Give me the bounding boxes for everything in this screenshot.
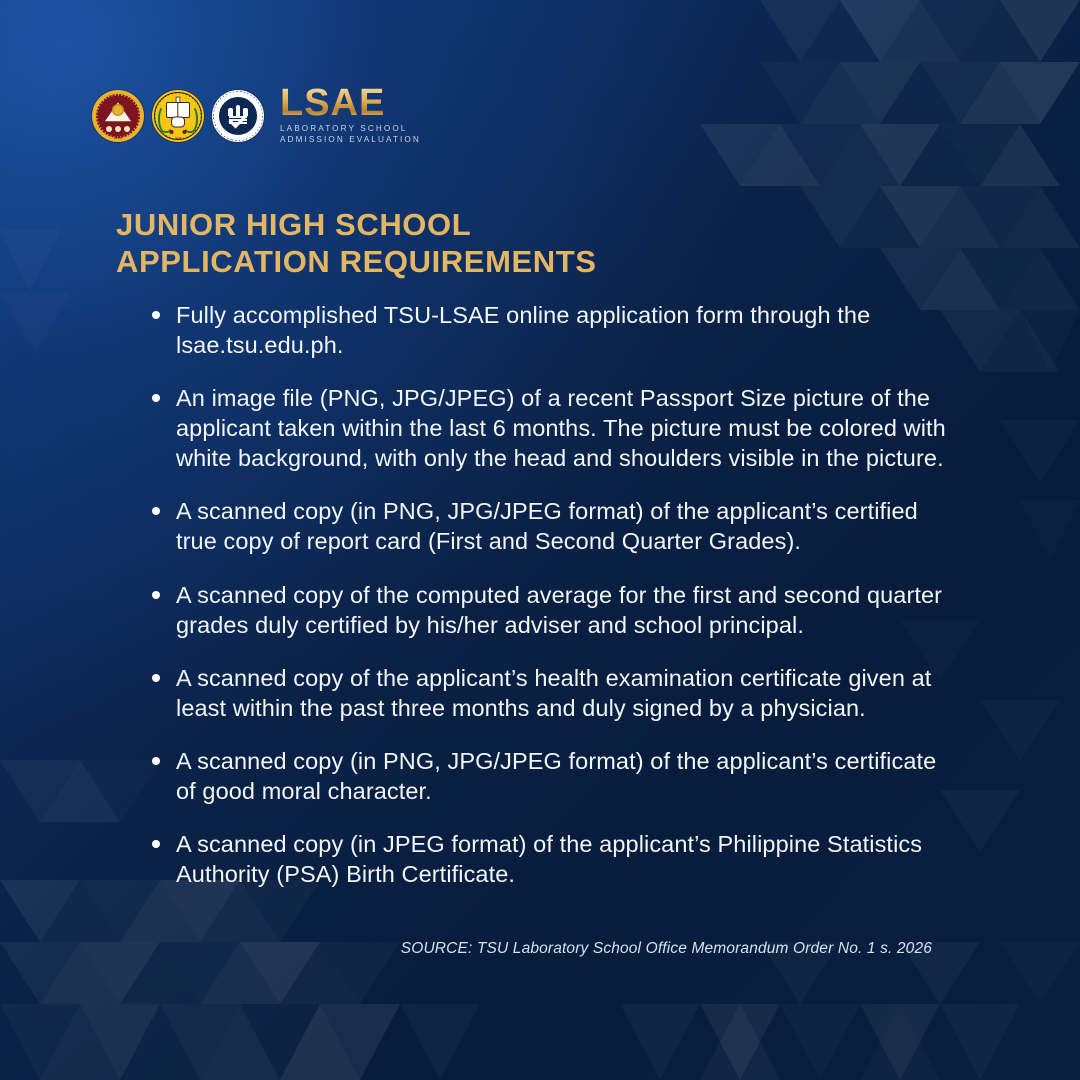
list-item: A scanned copy of the applicant’s health…	[152, 663, 952, 723]
requirements-list: Fully accomplished TSU-LSAE online appli…	[152, 300, 952, 889]
bullet-icon	[152, 840, 160, 848]
lsae-seal-icon	[212, 90, 264, 142]
source-note: SOURCE: TSU Laboratory School Office Mem…	[401, 940, 932, 958]
lsae-subtitle-line-1: LABORATORY SCHOOL	[280, 123, 421, 134]
list-item: A scanned copy (in PNG, JPG/JPEG format)…	[152, 746, 952, 806]
tsu-seal-year: 1906	[114, 136, 122, 140]
bullet-icon	[152, 394, 160, 402]
page-title: JUNIOR HIGH SCHOOL APPLICATION REQUIREME…	[116, 207, 876, 280]
list-item-text: A scanned copy (in PNG, JPG/JPEG format)…	[176, 496, 952, 556]
list-item-text: A scanned copy (in PNG, JPG/JPEG format)…	[176, 746, 952, 806]
list-item: A scanned copy of the computed average f…	[152, 580, 952, 640]
bullet-icon	[152, 674, 160, 682]
list-item-text: A scanned copy (in JPEG format) of the a…	[176, 829, 952, 889]
bullet-icon	[152, 591, 160, 599]
bullet-icon	[152, 311, 160, 319]
list-item-text: A scanned copy of the applicant’s health…	[176, 663, 952, 723]
page-title-line-1: JUNIOR HIGH SCHOOL	[116, 207, 876, 244]
list-item: A scanned copy (in PNG, JPG/JPEG format)…	[152, 496, 952, 556]
lsae-wordmark: LSAE LABORATORY SCHOOL ADMISSION EVALUAT…	[280, 86, 421, 145]
list-item-text: An image file (PNG, JPG/JPEG) of a recen…	[176, 383, 952, 473]
tsu-seal-icon: 1906	[92, 90, 144, 142]
list-item-text: A scanned copy of the computed average f…	[176, 580, 952, 640]
poster-canvas: 1906 1907 LSAE LABORATORY SCHOOL	[0, 0, 1080, 1080]
brand-logo-row: 1906 1907 LSAE LABORATORY SCHOOL	[92, 86, 421, 145]
lsae-subtitle-line-2: ADMISSION EVALUATION	[280, 134, 421, 145]
bullet-icon	[152, 507, 160, 515]
list-item: A scanned copy (in JPEG format) of the a…	[152, 829, 952, 889]
college-of-education-seal-icon: 1907	[152, 90, 204, 142]
list-item-text: Fully accomplished TSU-LSAE online appli…	[176, 300, 952, 360]
list-item: An image file (PNG, JPG/JPEG) of a recen…	[152, 383, 952, 473]
coed-seal-year: 1907	[174, 137, 181, 141]
bullet-icon	[152, 757, 160, 765]
lsae-wordmark-text: LSAE	[280, 86, 421, 121]
list-item: Fully accomplished TSU-LSAE online appli…	[152, 300, 952, 360]
page-title-line-2: APPLICATION REQUIREMENTS	[116, 244, 876, 281]
